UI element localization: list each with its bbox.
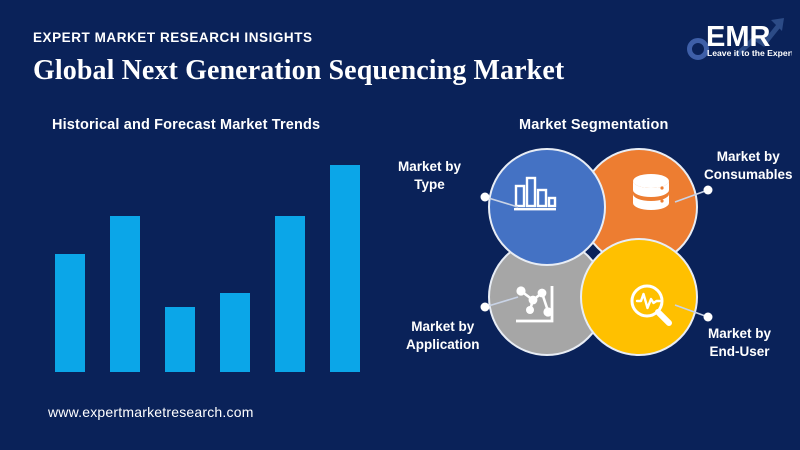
poster-canvas: EXPERT MARKET RESEARCH INSIGHTS Global N…: [0, 0, 800, 450]
bar-1: [55, 254, 85, 372]
leader-dot-enduser: [704, 313, 713, 322]
leader-lines: [440, 140, 800, 370]
emr-logo-graphic: EMR Leave it to the Experts!: [676, 8, 792, 64]
ring-dot-icon: [690, 41, 707, 58]
market-trends-bar-chart: [0, 0, 400, 400]
emr-logo[interactable]: EMR Leave it to the Experts!: [676, 8, 792, 64]
bar-3: [165, 307, 195, 372]
leader-dot-application: [481, 303, 490, 312]
bar-5: [275, 216, 305, 372]
leader-dot-type: [481, 193, 490, 202]
leader-dot-consumables: [704, 186, 713, 195]
logo-tagline: Leave it to the Experts!: [707, 48, 792, 58]
website-url[interactable]: www.expertmarketresearch.com: [48, 404, 254, 420]
bar-6: [330, 165, 360, 372]
bar-4: [220, 293, 250, 372]
bar-2: [110, 216, 140, 372]
